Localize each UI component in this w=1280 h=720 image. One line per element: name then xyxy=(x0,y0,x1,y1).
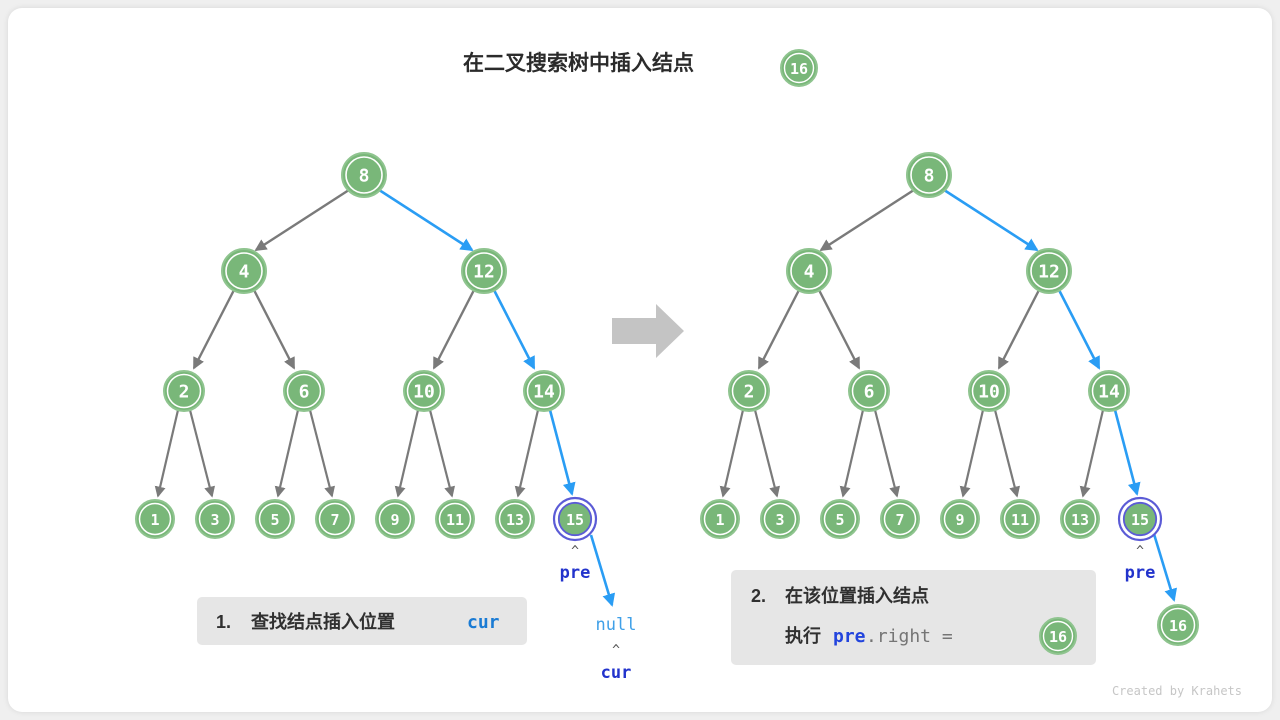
caption-step-2: 2. 在该位置插入结点 执行 pre .right = 16 xyxy=(731,570,1096,665)
edge-8-12 xyxy=(376,188,472,250)
tree-node-13-right[interactable]: 13 xyxy=(1061,500,1099,538)
node-value: 6 xyxy=(864,382,875,403)
tree-node-12-right[interactable]: 12 xyxy=(1027,249,1071,293)
pre-pointer-label: pre xyxy=(1125,563,1156,583)
node-value: 2 xyxy=(179,382,190,403)
node-value: 13 xyxy=(506,511,524,529)
tree-node-4-right[interactable]: 4 xyxy=(787,249,831,293)
edge-2-3 xyxy=(755,410,777,496)
caption-2-number: 2. xyxy=(751,586,766,606)
node-value: 4 xyxy=(804,262,815,283)
node-value: 7 xyxy=(330,511,339,529)
tree-node-12-left[interactable]: 12 xyxy=(462,249,506,293)
node-value: 12 xyxy=(473,262,495,283)
caption-2-code-rest: .right = xyxy=(866,626,953,647)
diagram-card: 在二叉搜索树中插入结点 16 xyxy=(8,8,1272,712)
edge-10-11 xyxy=(995,410,1017,496)
node-value: 2 xyxy=(744,382,755,403)
tree-node-8-left[interactable]: 8 xyxy=(342,153,386,197)
edge-8-4 xyxy=(821,188,917,250)
edge-4-2 xyxy=(194,290,234,368)
edge-6-5 xyxy=(278,410,298,496)
tree-node-6-left[interactable]: 6 xyxy=(284,371,324,411)
tree-node-13-left[interactable]: 13 xyxy=(496,500,534,538)
block-arrow-right xyxy=(612,304,684,358)
pre-pointer-label: pre xyxy=(560,563,591,583)
node-value: 8 xyxy=(359,166,370,187)
edge-8-12 xyxy=(941,188,1037,250)
tree-node-5-right[interactable]: 5 xyxy=(821,500,859,538)
node-value: 1 xyxy=(715,511,724,529)
node-value: 5 xyxy=(835,511,844,529)
node-value: 8 xyxy=(924,166,935,187)
edge-8-4 xyxy=(256,188,352,250)
node-value: 9 xyxy=(390,511,399,529)
caption-2-background xyxy=(731,570,1096,665)
node-value: 15 xyxy=(566,511,584,529)
node-value: 11 xyxy=(1011,511,1029,529)
caption-1-text: 查找结点插入位置 xyxy=(251,611,395,632)
tree-node-4-left[interactable]: 4 xyxy=(222,249,266,293)
tree-node-11-left[interactable]: 11 xyxy=(436,500,474,538)
node-value: 9 xyxy=(955,511,964,529)
left-tree-null-marker: null ^ cur xyxy=(596,615,637,683)
edge-2-1 xyxy=(158,410,178,496)
node-value: 5 xyxy=(270,511,279,529)
node-value: 13 xyxy=(1071,511,1089,529)
cur-caret-icon: ^ xyxy=(612,643,620,658)
tree-node-14-right[interactable]: 14 xyxy=(1089,371,1129,411)
page-title-text: 在二叉搜索树中插入结点 xyxy=(463,51,694,75)
tree-node-1-left[interactable]: 1 xyxy=(136,500,174,538)
tree-node-1-right[interactable]: 1 xyxy=(701,500,739,538)
cur-pointer-label: cur xyxy=(601,663,632,683)
tree-node-7-right[interactable]: 7 xyxy=(881,500,919,538)
edge-4-2 xyxy=(759,290,799,368)
edge-6-5 xyxy=(843,410,863,496)
node-value: 1 xyxy=(150,511,159,529)
tree-node-3-left[interactable]: 3 xyxy=(196,500,234,538)
node-value: 16 xyxy=(1169,617,1187,635)
caption-2-line2-prefix: 执行 xyxy=(785,625,821,646)
node-value: 10 xyxy=(413,382,435,403)
tree-node-16-inserted[interactable]: 16 xyxy=(1158,605,1198,645)
bst-insertion-diagram: 在二叉搜索树中插入结点 16 xyxy=(8,8,1272,712)
node-value: 6 xyxy=(299,382,310,403)
tree-node-5-left[interactable]: 5 xyxy=(256,500,294,538)
caption-1-number: 1. xyxy=(216,612,231,632)
null-label: null xyxy=(596,615,637,635)
caption-step-1: 1. 查找结点插入位置 cur xyxy=(197,597,527,645)
edge-12-10 xyxy=(434,290,474,368)
edge-14-15 xyxy=(550,410,572,494)
tree-node-10-right[interactable]: 10 xyxy=(969,371,1009,411)
tree-node-8-right[interactable]: 8 xyxy=(907,153,951,197)
caption-2-code-pre: pre xyxy=(833,626,866,647)
tree-node-9-left[interactable]: 9 xyxy=(376,500,414,538)
node-value: 10 xyxy=(978,382,1000,403)
right-tree-pointer-pre: ^ pre xyxy=(1125,544,1156,583)
edge-12-14 xyxy=(494,290,534,368)
left-tree-pointer-pre: ^ pre xyxy=(560,544,591,583)
edge-12-14 xyxy=(1059,290,1099,368)
edge-12-10 xyxy=(999,290,1039,368)
tree-node-11-right[interactable]: 11 xyxy=(1001,500,1039,538)
edge-10-9 xyxy=(398,410,418,496)
edge-14-13 xyxy=(1083,410,1103,496)
block-arrow-shape xyxy=(612,304,684,358)
edge-15-16 xyxy=(1154,534,1174,600)
pre-caret-icon: ^ xyxy=(571,544,579,559)
edge-14-13 xyxy=(518,410,538,496)
node-value: 14 xyxy=(533,382,555,403)
caption-1-code: cur xyxy=(467,612,500,633)
node-value: 3 xyxy=(775,511,784,529)
edge-6-7 xyxy=(310,410,332,496)
title-badge-value: 16 xyxy=(790,60,808,78)
tree-node-2-left[interactable]: 2 xyxy=(164,371,204,411)
caption-badge-value: 16 xyxy=(1049,628,1067,646)
node-value: 7 xyxy=(895,511,904,529)
node-value: 15 xyxy=(1131,511,1149,529)
node-value: 3 xyxy=(210,511,219,529)
tree-node-7-left[interactable]: 7 xyxy=(316,500,354,538)
edge-10-9 xyxy=(963,410,983,496)
tree-node-2-right[interactable]: 2 xyxy=(729,371,769,411)
tree-node-15-left-highlighted[interactable]: 15 xyxy=(554,498,596,540)
tree-node-6-right[interactable]: 6 xyxy=(849,371,889,411)
edge-14-15 xyxy=(1115,410,1137,494)
page-title: 在二叉搜索树中插入结点 16 xyxy=(463,50,817,86)
edge-15-null xyxy=(591,535,612,605)
node-value: 12 xyxy=(1038,262,1060,283)
edge-4-6 xyxy=(254,290,294,368)
edge-2-3 xyxy=(190,410,212,496)
node-value: 4 xyxy=(239,262,250,283)
tree-node-10-left[interactable]: 10 xyxy=(404,371,444,411)
credit-text: Created by Krahets xyxy=(1112,684,1242,698)
title-badge-node: 16 xyxy=(781,50,817,86)
node-value: 14 xyxy=(1098,382,1120,403)
tree-node-14-left[interactable]: 14 xyxy=(524,371,564,411)
tree-node-15-right-highlighted[interactable]: 15 xyxy=(1119,498,1161,540)
caption-2-line1: 在该位置插入结点 xyxy=(785,585,929,606)
edge-4-6 xyxy=(819,290,859,368)
edge-10-11 xyxy=(430,410,452,496)
tree-node-9-right[interactable]: 9 xyxy=(941,500,979,538)
caption-2-badge-node: 16 xyxy=(1040,618,1076,654)
tree-node-3-right[interactable]: 3 xyxy=(761,500,799,538)
edge-6-7 xyxy=(875,410,897,496)
node-value: 11 xyxy=(446,511,464,529)
pre-caret-icon: ^ xyxy=(1136,544,1144,559)
edge-2-1 xyxy=(723,410,743,496)
